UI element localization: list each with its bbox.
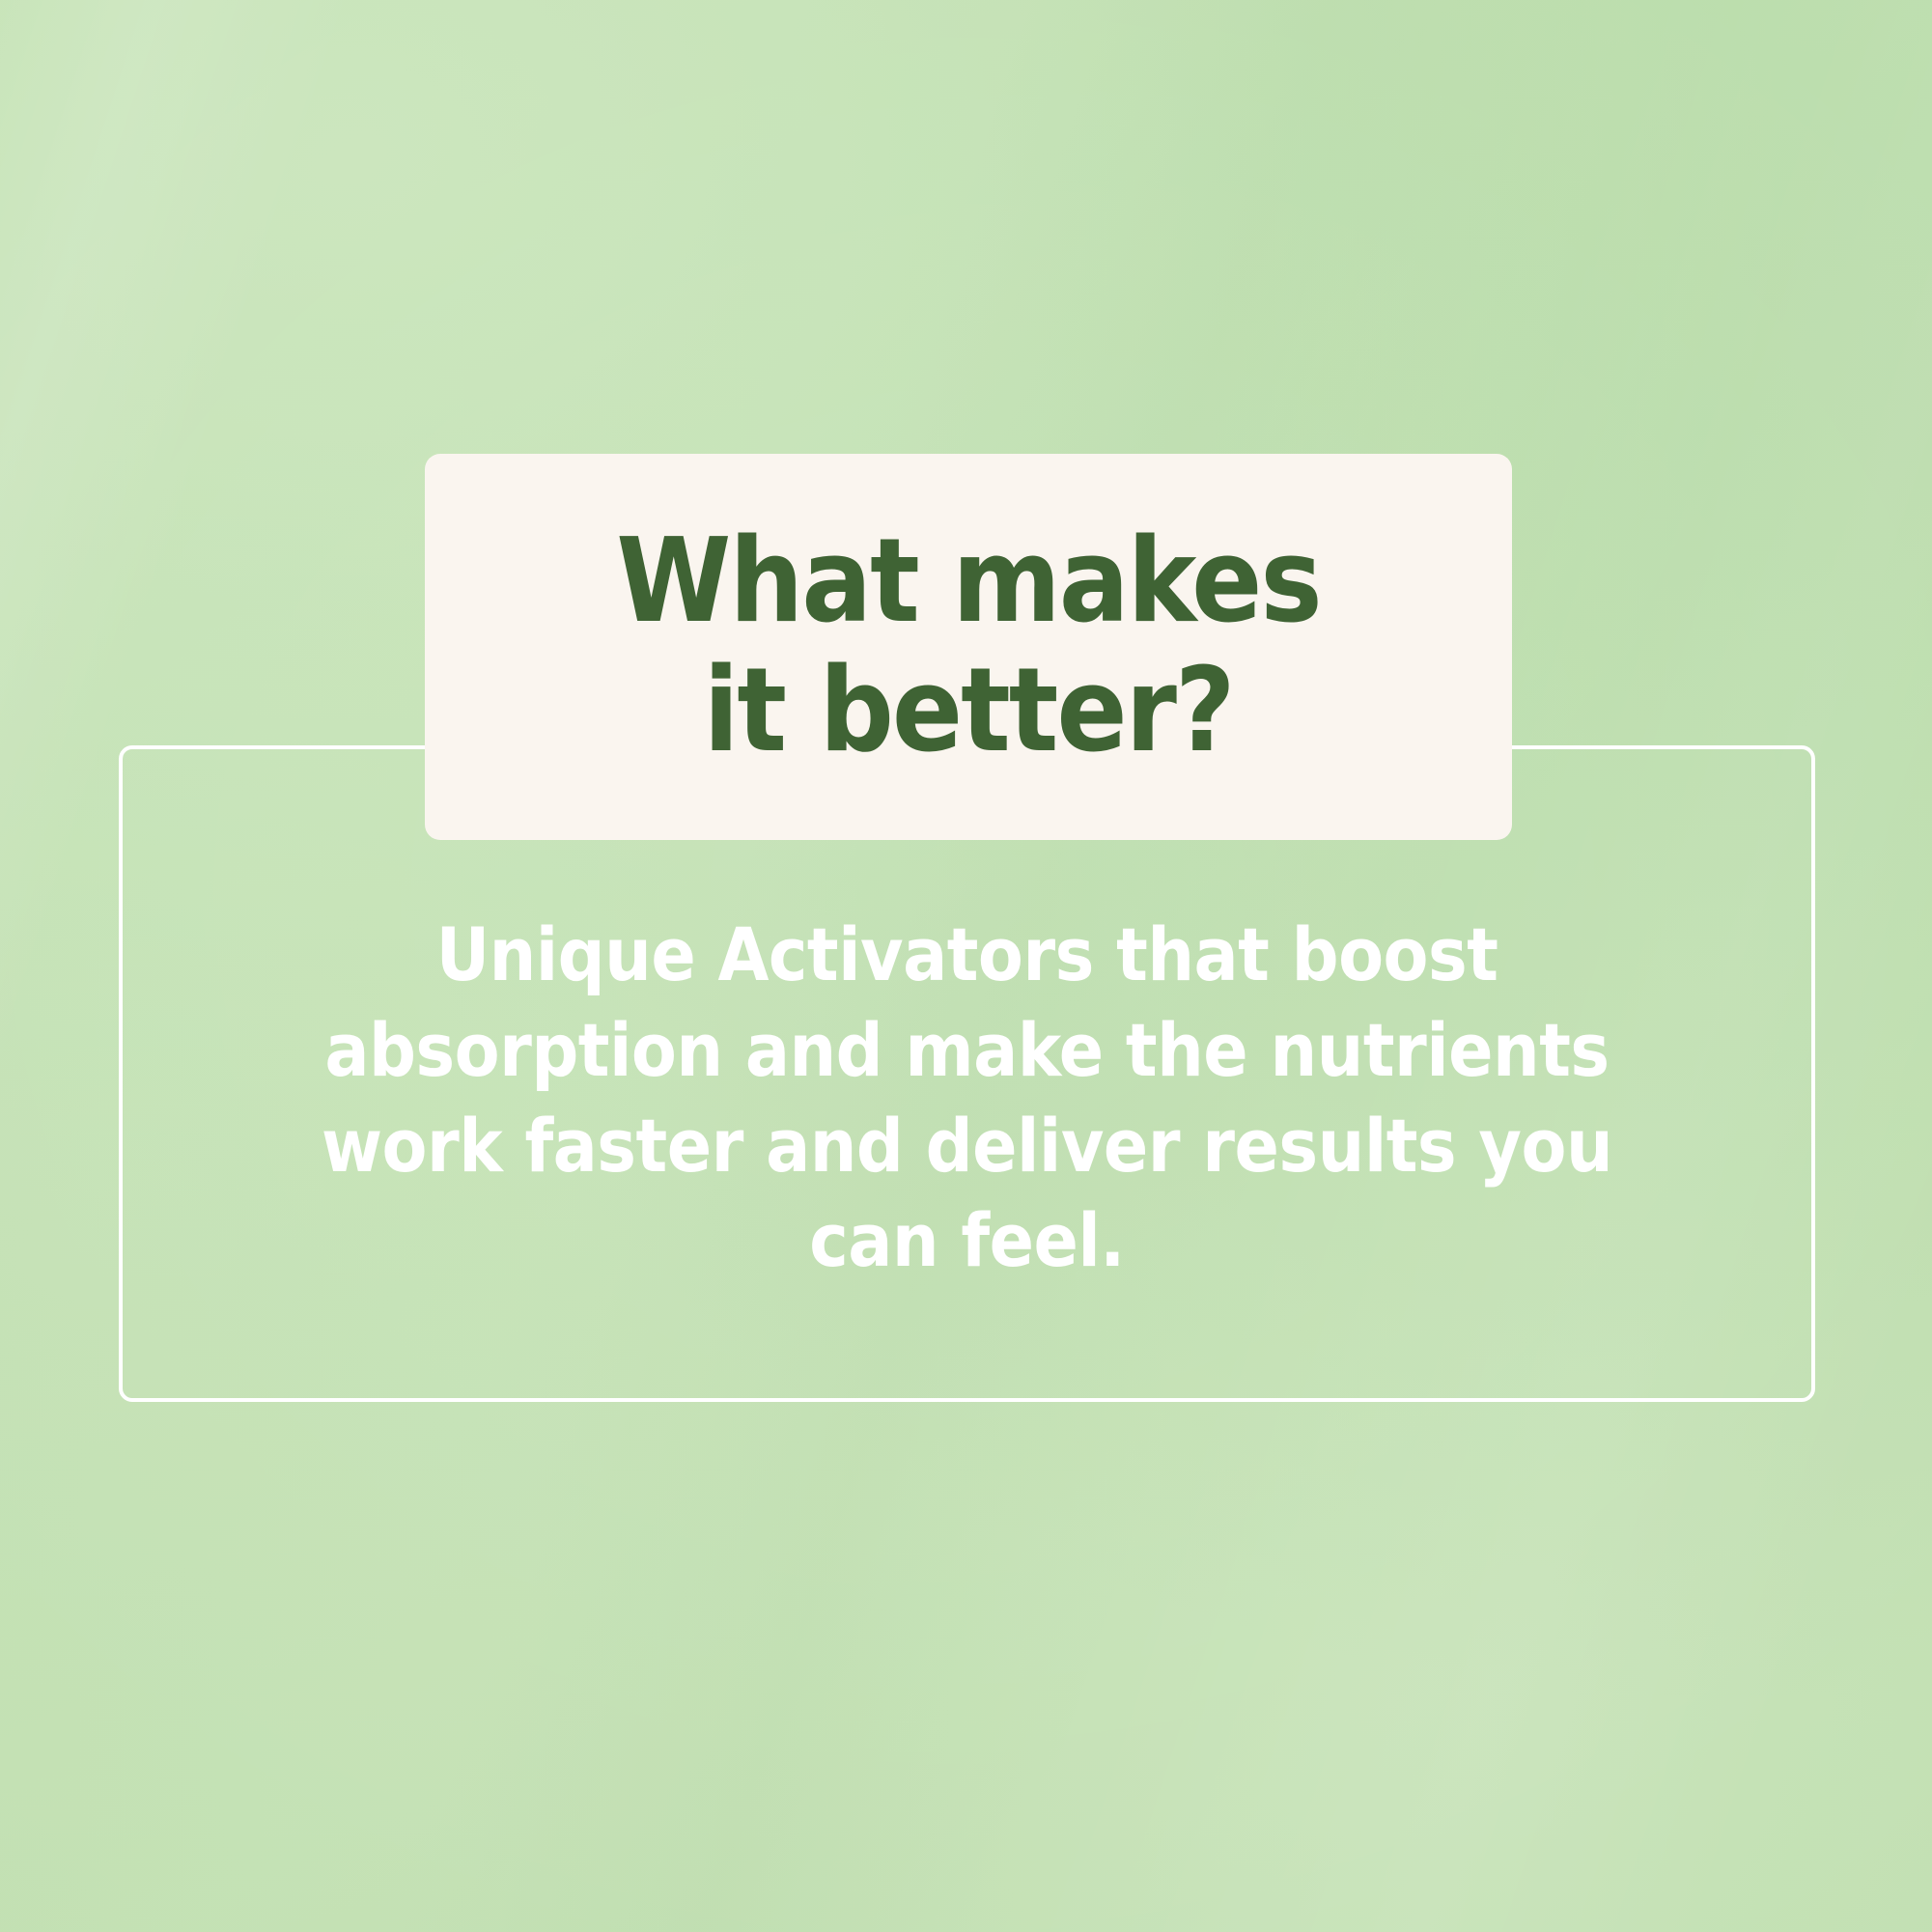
headline-title: What makes it better? <box>616 518 1320 777</box>
poster-canvas: Unique Activators that boost absorption … <box>0 0 1932 1932</box>
body-copy: Unique Activators that boost absorption … <box>119 908 1815 1289</box>
headline-card: What makes it better? <box>425 454 1512 840</box>
